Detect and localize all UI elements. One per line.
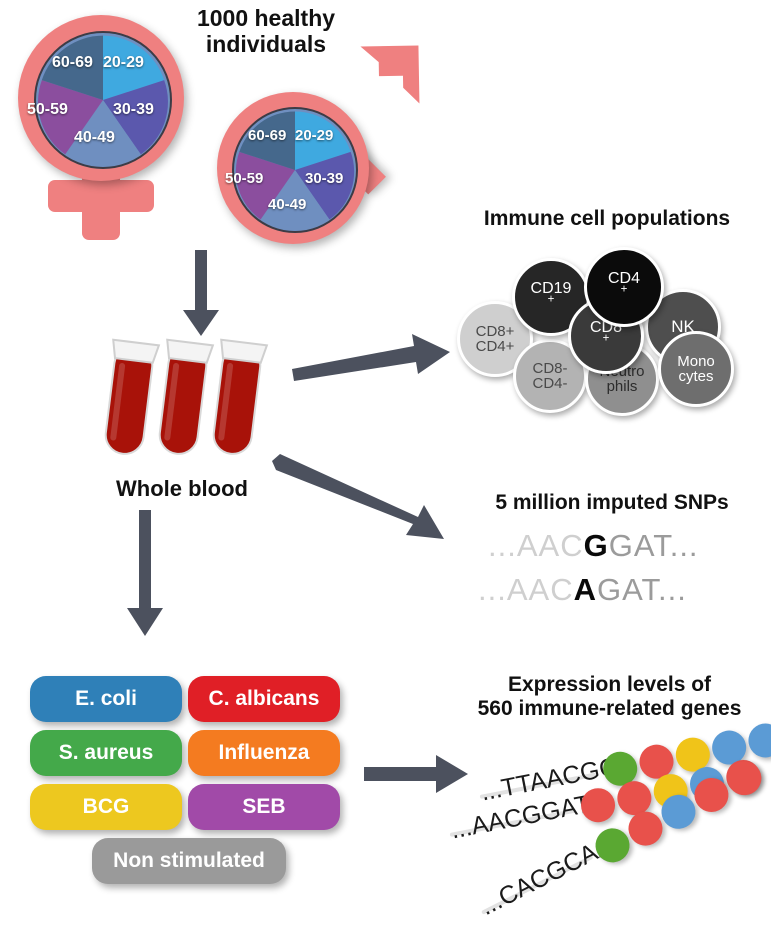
snp-sequence-row-2: ...AACAGAT... — [478, 572, 687, 608]
cell-sup: + — [621, 284, 628, 296]
stimulation-label: Influenza — [218, 741, 309, 765]
stimulation-s-aureus[interactable]: S. aureus — [30, 730, 182, 776]
female-wedge-label-40-49: 40-49 — [74, 129, 115, 147]
female-crossbar — [48, 180, 154, 212]
cell-label-line2: CD4+ — [476, 339, 515, 354]
cell-label-line1: Mono — [677, 354, 715, 369]
expression-title-line2: 560 immune-related genes — [452, 697, 767, 721]
male-wedge-label-30-39: 30-39 — [305, 170, 343, 187]
expression-bead — [746, 721, 771, 761]
snp-row2-suffix: GAT... — [597, 572, 687, 607]
snp-row1-suffix: GAT... — [609, 528, 699, 563]
cell-label-line1: CD8+ — [476, 324, 515, 339]
cohort-title-line1: 1000 healthy — [176, 6, 356, 32]
female-age-pie — [34, 31, 172, 169]
stimulation-c-albicans[interactable]: C. albicans — [188, 676, 340, 722]
female-wedge-label-60-69: 60-69 — [52, 54, 93, 72]
cell-label-line1: CD8- — [532, 361, 567, 376]
cell-sup: + — [603, 333, 610, 345]
arrow-blood-to-immune-cells — [292, 330, 452, 380]
snps-sequences: ...AACGGAT... ...AACAGAT... — [470, 528, 760, 616]
cell-label: CD19+ — [531, 281, 572, 314]
blood-tubes-svg — [96, 330, 276, 470]
female-wedge-label-30-39: 30-39 — [113, 101, 154, 119]
snp-sequence-row-1: ...AACGGAT... — [488, 528, 699, 564]
arrow-stimulations-to-expression — [364, 755, 470, 795]
stimulation-label: C. albicans — [209, 687, 320, 711]
male-wedge-label-20-29: 20-29 — [295, 127, 333, 144]
stimulation-label: SEB — [242, 795, 285, 819]
stimulation-label: E. coli — [75, 687, 137, 711]
blood-tubes — [96, 330, 276, 470]
male-symbol: 20-29 30-39 40-49 50-59 60-69 — [205, 30, 420, 250]
stimulation-seb[interactable]: SEB — [188, 784, 340, 830]
male-wedge-label-40-49: 40-49 — [268, 196, 306, 213]
snp-row2-variant: A — [574, 572, 597, 607]
arrow-blood-to-stimulations — [122, 510, 168, 638]
snp-row1-prefix: ...AAC — [488, 528, 584, 563]
snp-row1-variant: G — [584, 528, 609, 563]
female-symbol: 20-29 30-39 40-49 50-59 60-69 — [10, 10, 200, 250]
male-arrowhead — [353, 42, 425, 114]
stimulations-panel: E. coli C. albicans S. aureus Influenza … — [30, 676, 340, 896]
cell-cd4-plus: CD4+ — [584, 247, 664, 327]
immune-cells-cluster: CD8+ CD4+ CD19+ CD4+ NK CD8+ CD8- CD4- N… — [455, 245, 755, 415]
stimulation-influenza[interactable]: Influenza — [188, 730, 340, 776]
stimulation-label: S. aureus — [59, 741, 154, 765]
snp-row2-prefix: ...AAC — [478, 572, 574, 607]
arrow-cohort-to-blood — [178, 250, 224, 338]
male-wedge-label-60-69: 60-69 — [248, 127, 286, 144]
female-wedge-label-50-59: 50-59 — [27, 101, 68, 119]
female-wedge-label-20-29: 20-29 — [103, 54, 144, 72]
expression-title: Expression levels of 560 immune-related … — [452, 673, 767, 720]
immune-cells-title: Immune cell populations — [452, 207, 762, 231]
cell-sup: + — [548, 294, 555, 306]
snps-title: 5 million imputed SNPs — [462, 491, 762, 515]
whole-blood-label: Whole blood — [82, 477, 282, 502]
cell-label-line2: phils — [599, 379, 644, 394]
arrow-blood-to-snps — [272, 455, 452, 540]
stimulation-non-stimulated[interactable]: Non stimulated — [92, 838, 286, 884]
stimulation-label: Non stimulated — [113, 849, 265, 873]
cell-monocytes: Mono cytes — [658, 331, 734, 407]
cell-label-line2: CD4- — [532, 376, 567, 391]
stimulation-label: BCG — [83, 795, 130, 819]
expression-title-line1: Expression levels of — [452, 673, 767, 697]
stimulation-e-coli[interactable]: E. coli — [30, 676, 182, 722]
cell-label: CD4+ — [608, 271, 640, 304]
cell-label-line2: cytes — [677, 369, 715, 384]
male-wedge-label-50-59: 50-59 — [225, 170, 263, 187]
stimulation-bcg[interactable]: BCG — [30, 784, 182, 830]
expression-strands: ...TTAACGG ...AACGGAT ...CACGCAA — [460, 730, 771, 915]
